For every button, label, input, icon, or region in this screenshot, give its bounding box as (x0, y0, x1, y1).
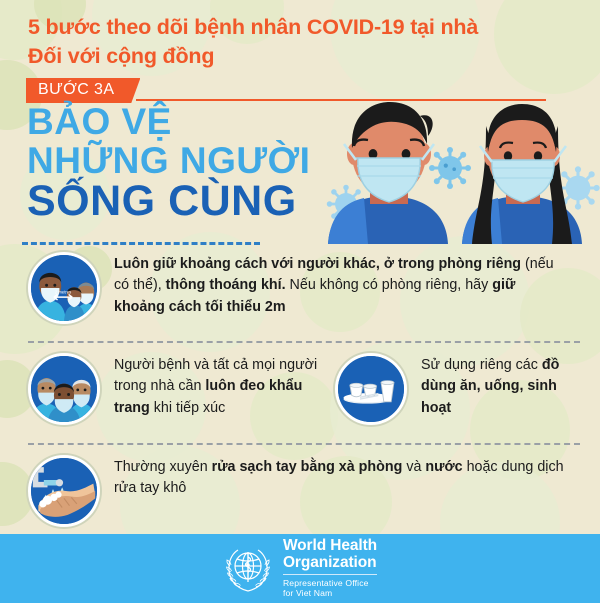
who-footer: World Health Organization Representative… (0, 534, 600, 603)
headline-divider (22, 242, 260, 245)
page-title-line2: Đối với cộng đồng (28, 42, 573, 71)
guideline-text-1: Luôn giữ khoảng cách với người khác, ở t… (114, 252, 568, 318)
guideline-text-3: Sử dụng riêng các đồ dùng ăn, uống, sinh… (421, 353, 585, 419)
headline-line3: SỐNG CÙNG (27, 181, 310, 222)
tableware-icon (335, 353, 407, 425)
row-divider-2 (28, 443, 580, 445)
guideline-row-1: 2 metres Luôn giữ khoảng cách với người … (28, 252, 568, 324)
page-title-line1: 5 bước theo dõi bệnh nhân COVID-19 tại n… (28, 15, 478, 39)
headline: BẢO VỆ NHỮNG NGƯỜI SỐNG CÙNG (27, 104, 310, 222)
physical-distancing-icon: 2 metres (28, 252, 100, 324)
infographic-poster: 5 bước theo dõi bệnh nhân COVID-19 tại n… (0, 0, 600, 603)
svg-text:2 metres: 2 metres (55, 290, 71, 295)
who-sub-line1: Representative Office (283, 578, 377, 588)
step-badge: BƯỚC 3A (26, 78, 140, 103)
who-name-line1: World Health (283, 538, 377, 554)
guideline-row-3: Sử dụng riêng các đồ dùng ăn, uống, sinh… (335, 353, 585, 425)
headline-line2: NHỮNG NGƯỜI (27, 143, 310, 178)
headline-line1: BẢO VỆ (27, 104, 310, 139)
who-rule (283, 574, 377, 575)
page-title: 5 bước theo dõi bệnh nhân COVID-19 tại n… (28, 13, 573, 70)
who-wordmark: World Health Organization Representative… (283, 538, 377, 599)
guideline-text-2: Người bệnh và tất cả mọi người trong nhà… (114, 353, 328, 419)
masked-family-icon (28, 353, 100, 425)
man-figure (328, 102, 448, 244)
who-emblem-icon (223, 544, 273, 594)
who-lockup: World Health Organization Representative… (223, 538, 377, 599)
row-divider-1 (28, 341, 580, 343)
who-name-line2: Organization (283, 555, 377, 571)
who-sub-line2: for Viet Nam (283, 588, 377, 598)
guideline-row-2: Người bệnh và tất cả mọi người trong nhà… (28, 353, 328, 425)
guideline-text-4: Thường xuyên rửa sạch tay bằng xà phòng … (114, 455, 568, 500)
handwashing-icon (28, 455, 100, 527)
guideline-row-4: Thường xuyên rửa sạch tay bằng xà phòng … (28, 455, 568, 527)
masked-couple-illustration (310, 96, 600, 244)
